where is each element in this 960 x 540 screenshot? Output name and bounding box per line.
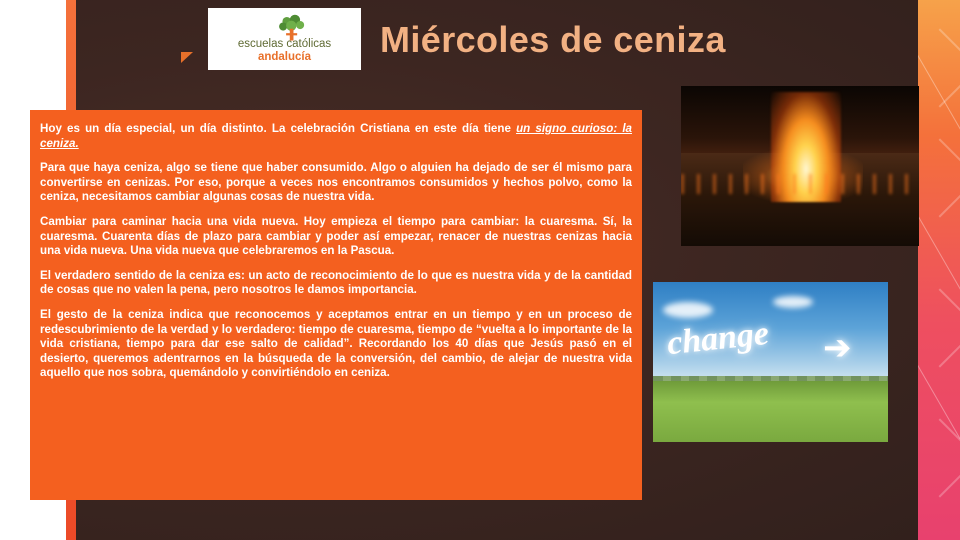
burning-embers-photo	[681, 86, 919, 246]
page-title: Miércoles de ceniza	[380, 19, 726, 61]
paragraph-1: Hoy es un día especial, un día distinto.…	[40, 122, 632, 151]
paragraph-3: Cambiar para caminar hacia una vida nuev…	[40, 215, 632, 259]
paragraph-1-plain: Hoy es un día especial, un día distinto.…	[40, 122, 516, 135]
logo-line-2: andalucía	[215, 51, 355, 63]
change-clouds-photo: change ➔	[653, 282, 888, 442]
logo: escuelas católicas andalucía	[208, 8, 361, 70]
title-marker-icon	[181, 52, 193, 63]
logo-line-1: escuelas católicas	[215, 38, 355, 50]
body-text-card: Hoy es un día especial, un día distinto.…	[30, 110, 642, 500]
right-decorative-panel	[918, 0, 960, 540]
change-arrow-icon: ➔	[823, 328, 852, 368]
paragraph-4: El verdadero sentido de la ceniza es: un…	[40, 269, 632, 298]
paragraph-5: El gesto de la ceniza indica que reconoc…	[40, 308, 632, 381]
slide: escuelas católicas andalucía Miércoles d…	[0, 0, 960, 540]
paragraph-2: Para que haya ceniza, algo se tiene que …	[40, 161, 632, 205]
